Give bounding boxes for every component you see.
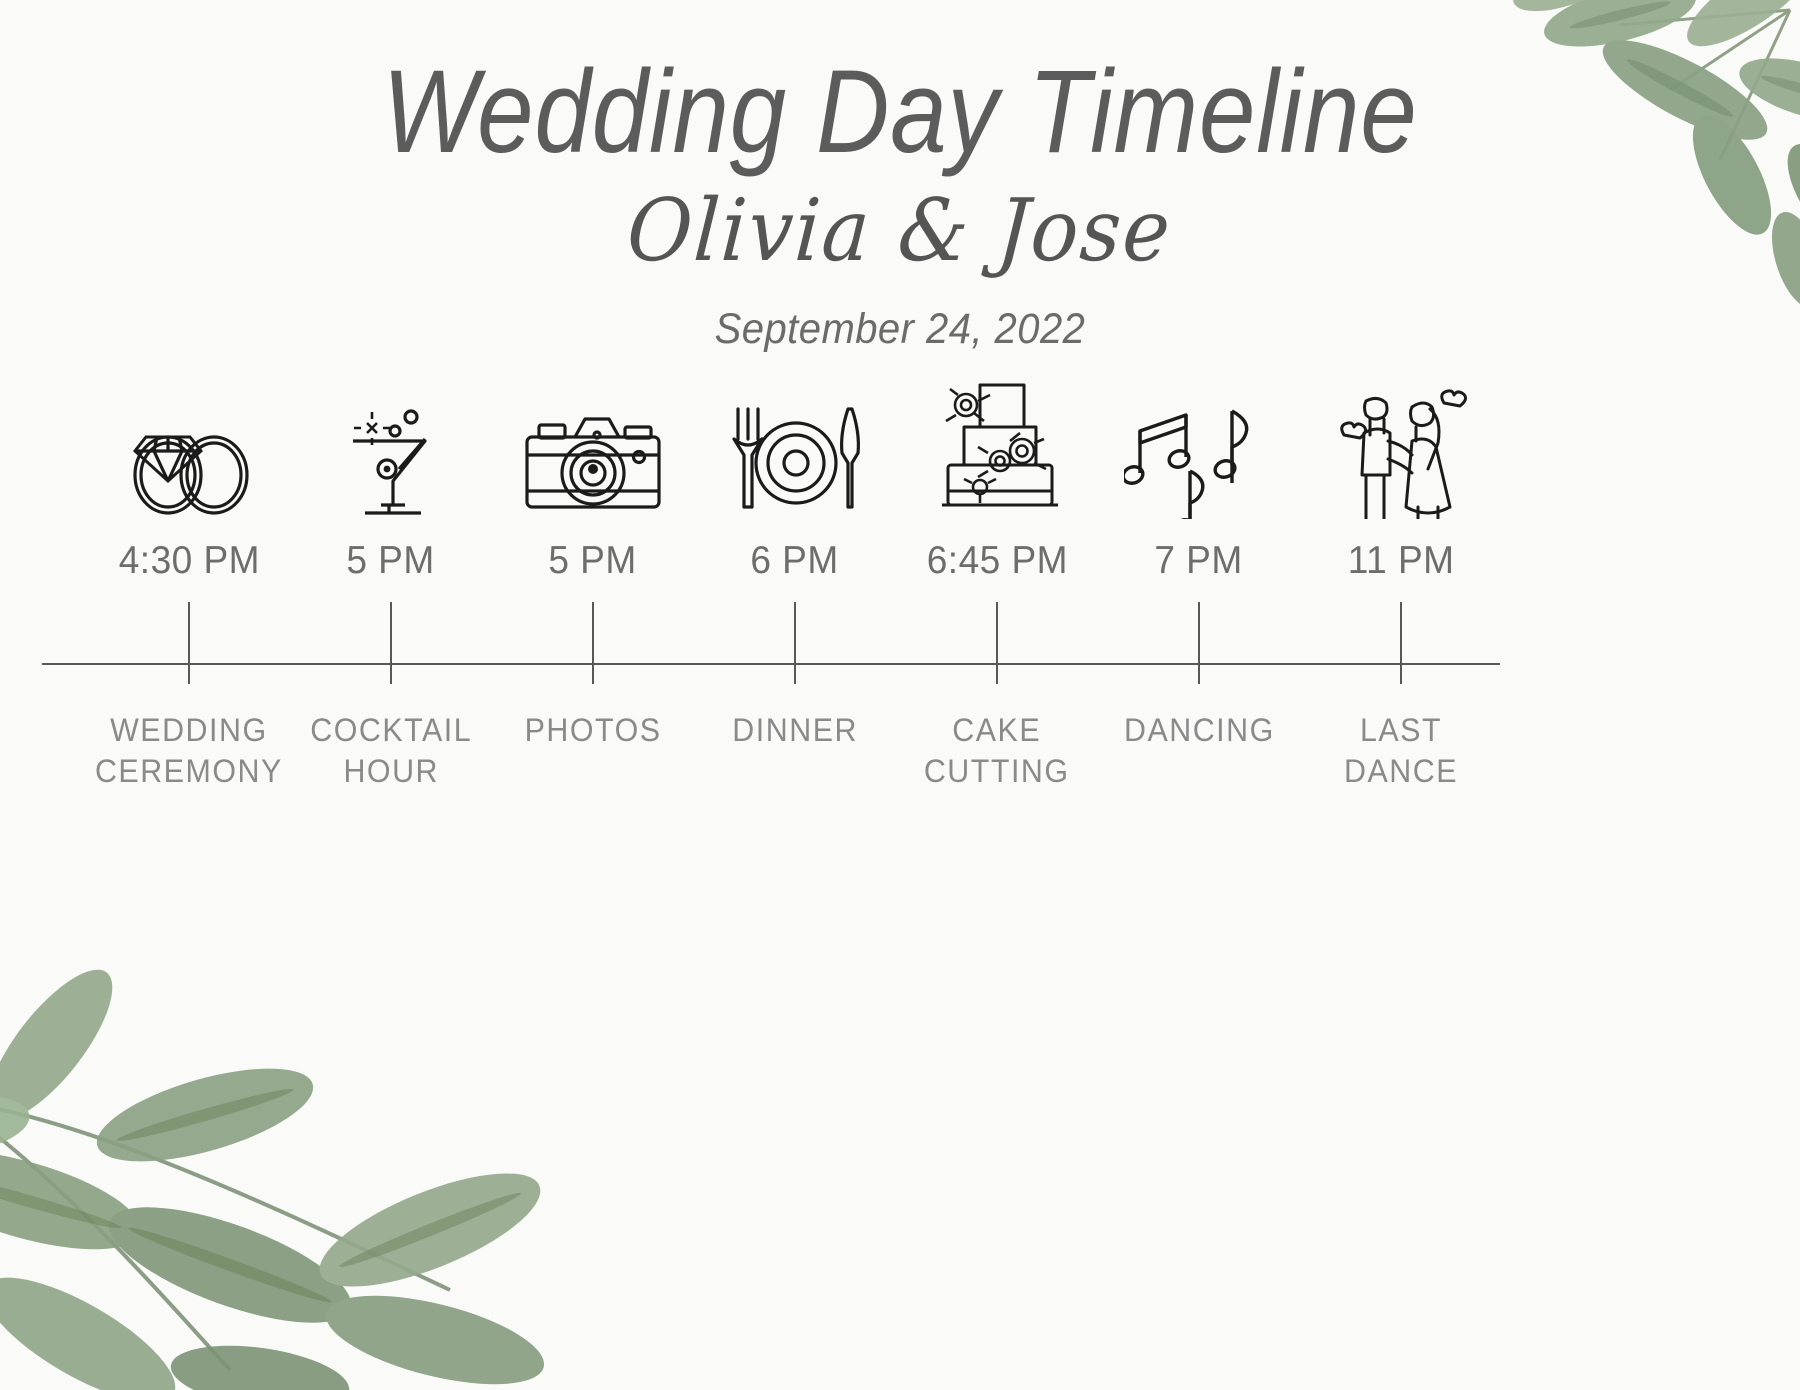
timeline-event: 5 PM PHOTOS <box>492 395 694 865</box>
dinner-plate-icon <box>715 395 875 519</box>
event-label: CAKE CUTTING <box>924 710 1070 792</box>
event-label: WEDDING CEREMONY <box>95 710 283 792</box>
poster-header: Wedding Day Timeline Olivia & Jose Septe… <box>0 0 1800 351</box>
event-label: LAST DANCE <box>1344 710 1458 792</box>
camera-icon <box>513 395 673 519</box>
event-label: DINNER <box>732 710 858 751</box>
event-time: 5 PM <box>549 541 637 580</box>
wedding-date: September 24, 2022 <box>63 274 1737 351</box>
poster-canvas: Wedding Day Timeline Olivia & Jose Septe… <box>0 0 1800 1350</box>
timeline: 4:30 PM WEDDING CEREMONY <box>0 395 1800 865</box>
timeline-event: 4:30 PM WEDDING CEREMONY <box>88 395 290 865</box>
timeline-tick <box>996 602 998 684</box>
watercolor-eucalyptus-bottom-left <box>0 870 610 1390</box>
timeline-event: 11 PM LAST DANCE <box>1300 395 1502 865</box>
event-time: 6:45 PM <box>926 541 1067 580</box>
event-time: 6 PM <box>751 541 839 580</box>
music-notes-icon <box>1119 395 1279 519</box>
wedding-rings-icon <box>109 395 269 519</box>
timeline-tick <box>390 602 392 684</box>
event-label: PHOTOS <box>525 710 662 751</box>
wedding-cake-icon <box>917 395 1077 519</box>
timeline-tick <box>794 602 796 684</box>
page-title: Wedding Day Timeline <box>126 0 1674 172</box>
couple-names: Olivia & Jose <box>69 172 1732 274</box>
timeline-tick <box>1400 602 1402 684</box>
event-label: DANCING <box>1124 710 1275 751</box>
dancing-couple-icon <box>1321 395 1481 519</box>
event-time: 4:30 PM <box>118 541 259 580</box>
timeline-tick <box>592 602 594 684</box>
timeline-event: 6 PM DINNER <box>694 395 896 865</box>
event-time: 7 PM <box>1155 541 1243 580</box>
cocktail-glass-icon <box>311 395 471 519</box>
timeline-event: 6:45 PM CAKE CUTTING <box>896 395 1098 865</box>
event-label: COCKTAIL HOUR <box>310 710 472 792</box>
timeline-events: 4:30 PM WEDDING CEREMONY <box>0 395 1800 865</box>
timeline-tick <box>188 602 190 684</box>
timeline-tick <box>1198 602 1200 684</box>
event-time: 11 PM <box>1348 541 1455 580</box>
timeline-event: 7 PM DANCING <box>1098 395 1300 865</box>
timeline-event: 5 PM COCKTAIL HOUR <box>290 395 492 865</box>
event-time: 5 PM <box>347 541 435 580</box>
